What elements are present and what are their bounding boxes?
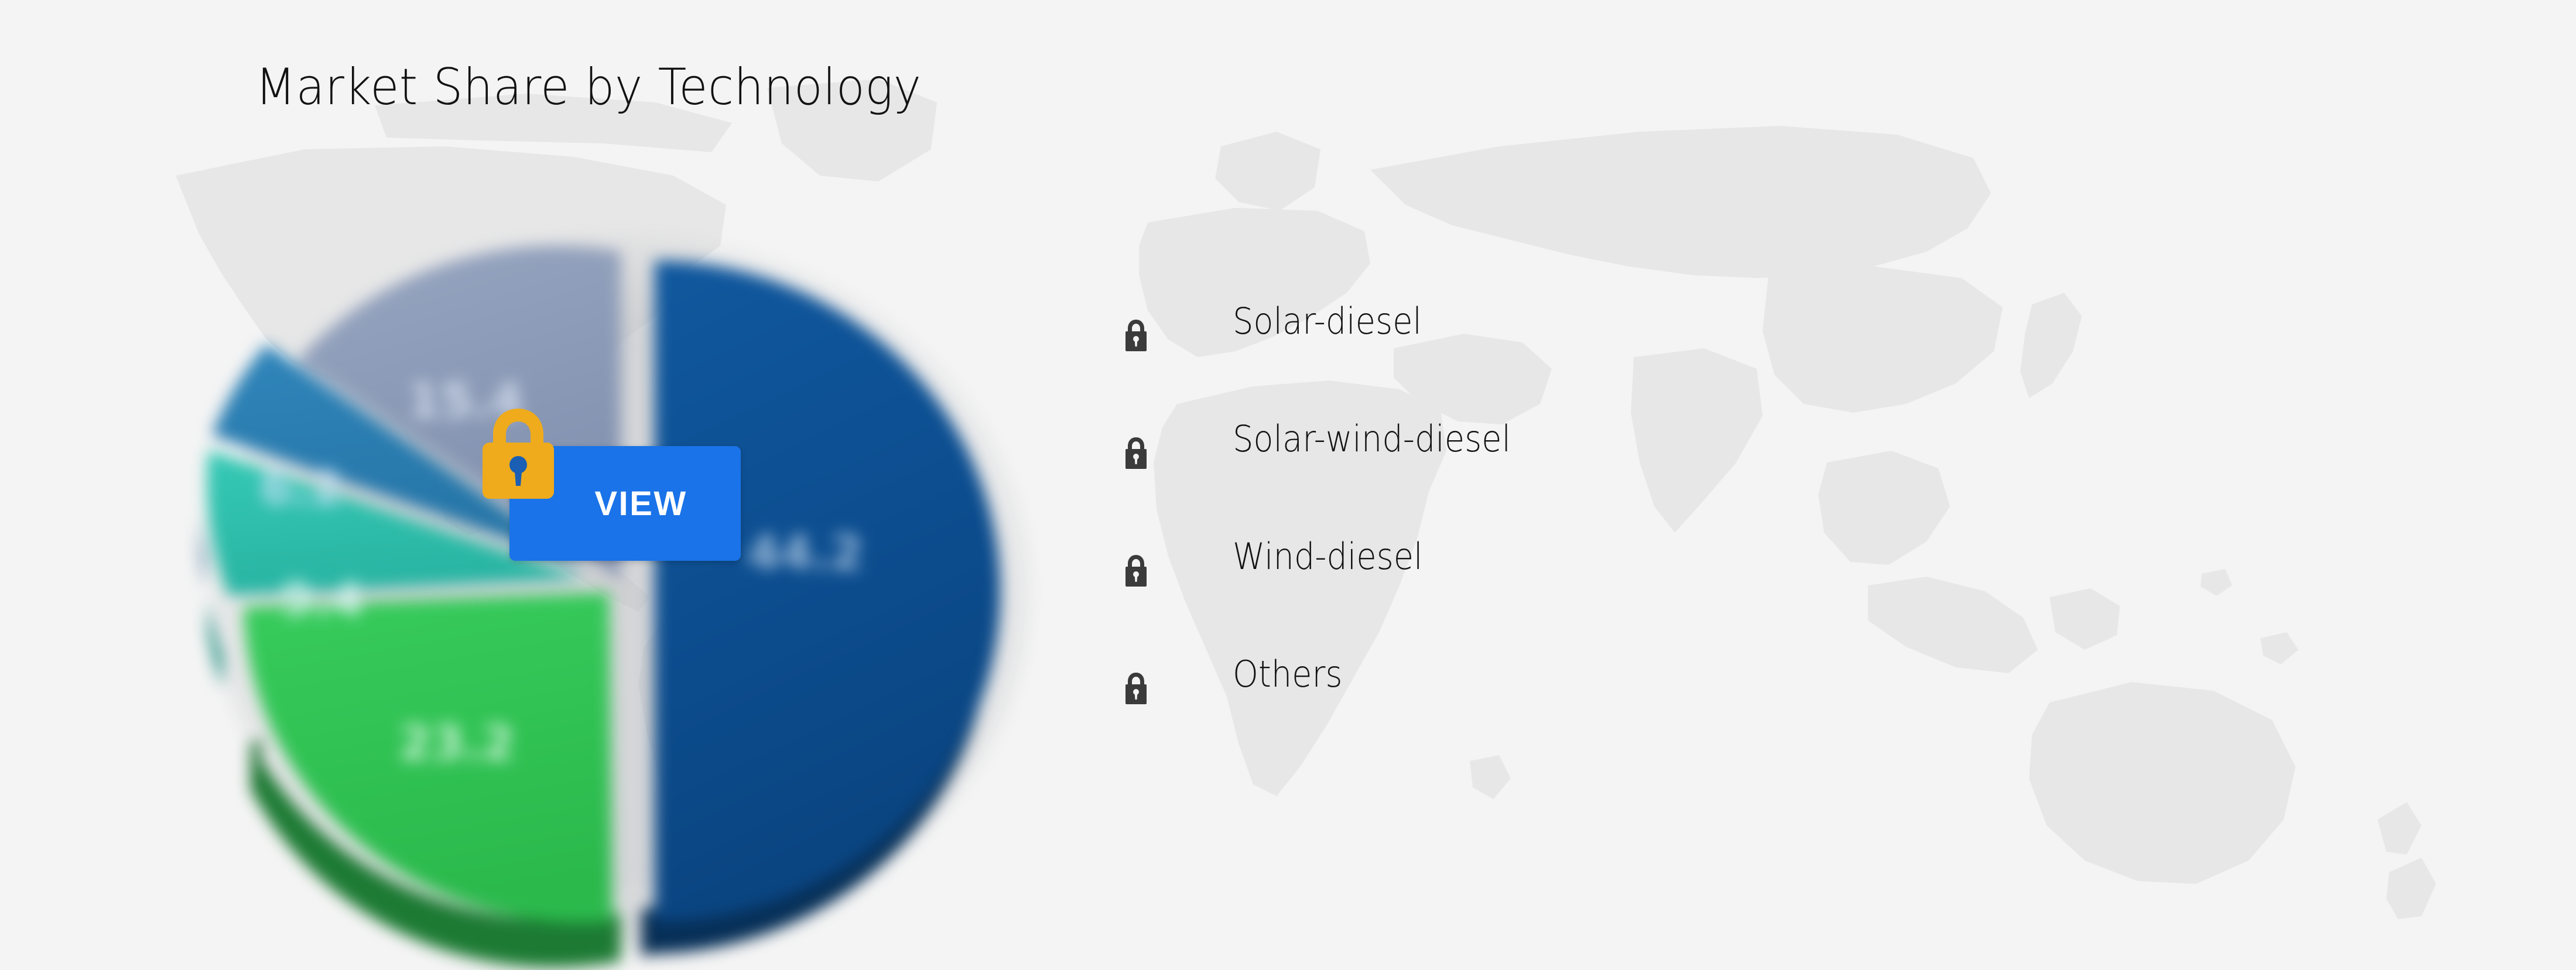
lock-icon (1123, 671, 1149, 705)
page-title: Market Share by Technology (255, 62, 921, 112)
svg-text:9.4: 9.4 (280, 573, 364, 627)
legend-item-label: Others (1233, 656, 1343, 693)
pie-chart: 44.2 15.4 6.2 9.4 23.2 VIEW (146, 158, 1095, 970)
unlock-overlay[interactable]: VIEW (474, 404, 767, 556)
slide-canvas: Market Share by Technology (0, 0, 2576, 970)
lock-icon (1123, 318, 1149, 352)
chart-legend: Solar-diesel Solar-wind-diesel Wind-dies… (1118, 293, 1938, 763)
legend-item-others[interactable]: Others (1118, 646, 1938, 763)
svg-text:6.2: 6.2 (260, 461, 343, 516)
legend-item-label: Solar-diesel (1233, 303, 1422, 340)
view-button[interactable]: VIEW (509, 446, 741, 561)
pie-chart-blurred-graphic: 44.2 15.4 6.2 9.4 23.2 (146, 158, 1095, 970)
legend-item-wind-diesel[interactable]: Wind-diesel (1118, 528, 1938, 646)
lock-icon (1123, 436, 1149, 470)
legend-item-label: Solar-wind-diesel (1233, 421, 1511, 457)
svg-text:23.2: 23.2 (399, 716, 514, 770)
lock-icon (1123, 554, 1149, 588)
legend-item-solar-diesel[interactable]: Solar-diesel (1118, 293, 1938, 410)
legend-item-label: Wind-diesel (1233, 539, 1423, 575)
legend-item-solar-wind-diesel[interactable]: Solar-wind-diesel (1118, 410, 1938, 528)
